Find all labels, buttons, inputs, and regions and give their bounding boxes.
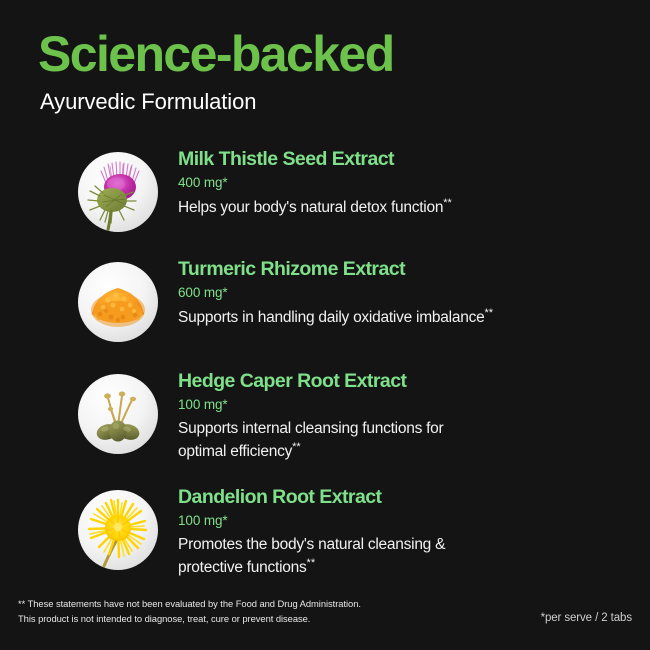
ingredient-info: Turmeric Rhizome Extract 600 mg* Support… bbox=[178, 258, 493, 329]
ingredient-dose: 100 mg* bbox=[178, 512, 445, 530]
list-item: Hedge Caper Root Extract 100 mg* Support… bbox=[0, 370, 650, 486]
footnote-marker: ** bbox=[292, 441, 301, 453]
description-text: protective functions bbox=[178, 559, 307, 576]
page-title: Science-backed bbox=[38, 28, 618, 80]
list-item: Turmeric Rhizome Extract 600 mg* Support… bbox=[0, 258, 650, 370]
description-text: Supports in handling daily oxidative imb… bbox=[178, 309, 484, 326]
ingredient-dose: 100 mg* bbox=[178, 396, 443, 414]
ingredient-info: Dandelion Root Extract 100 mg* Promotes … bbox=[178, 486, 445, 579]
footnote-marker: ** bbox=[484, 307, 493, 319]
ingredient-description: Helps your body's natural detox function… bbox=[178, 196, 452, 219]
ingredient-description: Supports internal cleansing functions fo… bbox=[178, 418, 443, 463]
description-text: optimal efficiency bbox=[178, 443, 292, 460]
page-subtitle: Ayurvedic Formulation bbox=[40, 90, 618, 114]
ingredient-description: Promotes the body's natural cleansing & … bbox=[178, 534, 445, 579]
description-text: Helps your body's natural detox function bbox=[178, 199, 443, 216]
ingredient-name: Dandelion Root Extract bbox=[178, 486, 445, 509]
description-line-2: optimal efficiency** bbox=[178, 440, 443, 463]
header: Science-backed Ayurvedic Formulation bbox=[38, 28, 618, 114]
ingredient-name: Milk Thistle Seed Extract bbox=[178, 148, 452, 171]
ingredient-info: Milk Thistle Seed Extract 400 mg* Helps … bbox=[178, 148, 452, 219]
dandelion-flower-icon bbox=[78, 490, 158, 570]
product-ingredients-panel: Science-backed Ayurvedic Formulation bbox=[0, 0, 650, 650]
ingredient-dose: 600 mg* bbox=[178, 284, 493, 302]
fda-disclaimer: ** These statements have not been evalua… bbox=[18, 596, 361, 626]
milk-thistle-flower-icon bbox=[78, 152, 158, 232]
caper-berries-icon bbox=[78, 374, 158, 454]
serving-note: *per serve / 2 tabs bbox=[541, 612, 632, 624]
list-item: Dandelion Root Extract 100 mg* Promotes … bbox=[0, 486, 650, 596]
ingredient-name: Hedge Caper Root Extract bbox=[178, 370, 443, 393]
ingredient-description: Supports in handling daily oxidative imb… bbox=[178, 306, 493, 329]
list-item: Milk Thistle Seed Extract 400 mg* Helps … bbox=[0, 148, 650, 258]
footnote-marker: ** bbox=[307, 557, 316, 569]
footnote-marker: ** bbox=[443, 197, 452, 209]
ingredient-name: Turmeric Rhizome Extract bbox=[178, 258, 493, 281]
description-line-2: protective functions** bbox=[178, 556, 445, 579]
description-line-1: Promotes the body's natural cleansing & bbox=[178, 534, 445, 556]
disclaimer-line-2: This product is not intended to diagnose… bbox=[18, 611, 361, 626]
description-line-1: Supports internal cleansing functions fo… bbox=[178, 418, 443, 440]
ingredient-info: Hedge Caper Root Extract 100 mg* Support… bbox=[178, 370, 443, 463]
ingredient-list: Milk Thistle Seed Extract 400 mg* Helps … bbox=[0, 148, 650, 596]
disclaimer-line-1: ** These statements have not been evalua… bbox=[18, 596, 361, 611]
turmeric-powder-icon bbox=[78, 262, 158, 342]
footer: ** These statements have not been evalua… bbox=[0, 596, 650, 640]
ingredient-dose: 400 mg* bbox=[178, 174, 452, 192]
